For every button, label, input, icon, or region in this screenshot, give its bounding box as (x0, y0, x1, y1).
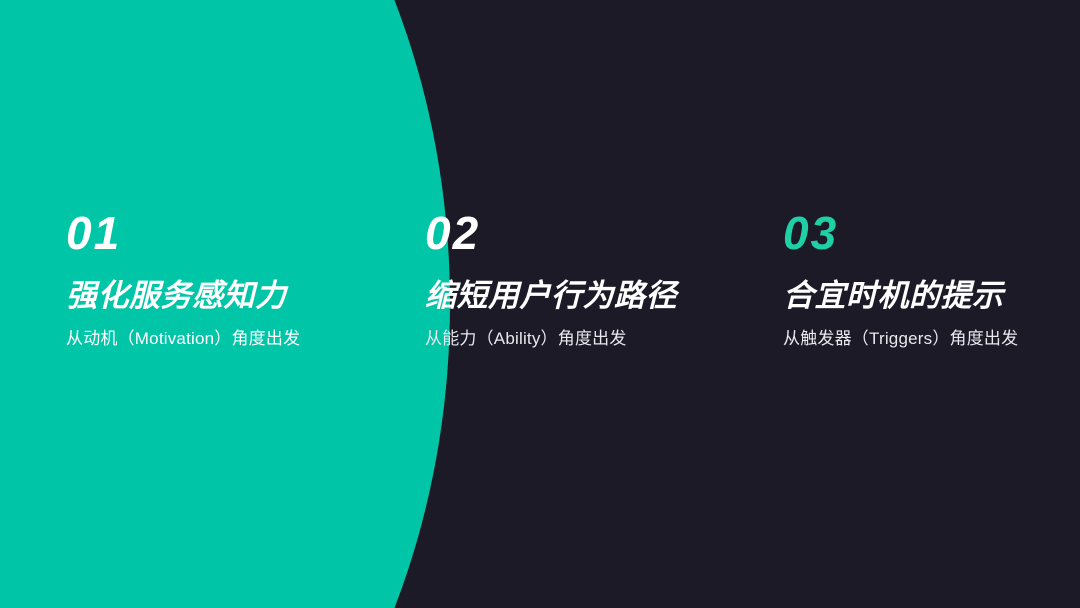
column-2-number: 02 (425, 208, 755, 258)
content-columns: 01 强化服务感知力 从动机（Motivation）角度出发 02 缩短用户行为… (0, 0, 1080, 608)
column-1-subtitle: 从动机（Motivation）角度出发 (66, 328, 396, 350)
slide-canvas: 01 强化服务感知力 从动机（Motivation）角度出发 02 缩短用户行为… (0, 0, 1080, 608)
column-2-subtitle: 从能力（Ability）角度出发 (425, 328, 755, 350)
column-3: 03 合宜时机的提示 从触发器（Triggers）角度出发 (783, 208, 1080, 350)
column-3-subtitle: 从触发器（Triggers）角度出发 (783, 328, 1080, 350)
column-3-title: 合宜时机的提示 (783, 278, 1080, 314)
column-3-number: 03 (783, 208, 1080, 258)
column-1-title: 强化服务感知力 (66, 278, 396, 314)
column-1-number: 01 (66, 208, 396, 258)
column-1: 01 强化服务感知力 从动机（Motivation）角度出发 (66, 208, 396, 350)
column-2-title: 缩短用户行为路径 (425, 278, 755, 314)
column-2: 02 缩短用户行为路径 从能力（Ability）角度出发 (425, 208, 755, 350)
